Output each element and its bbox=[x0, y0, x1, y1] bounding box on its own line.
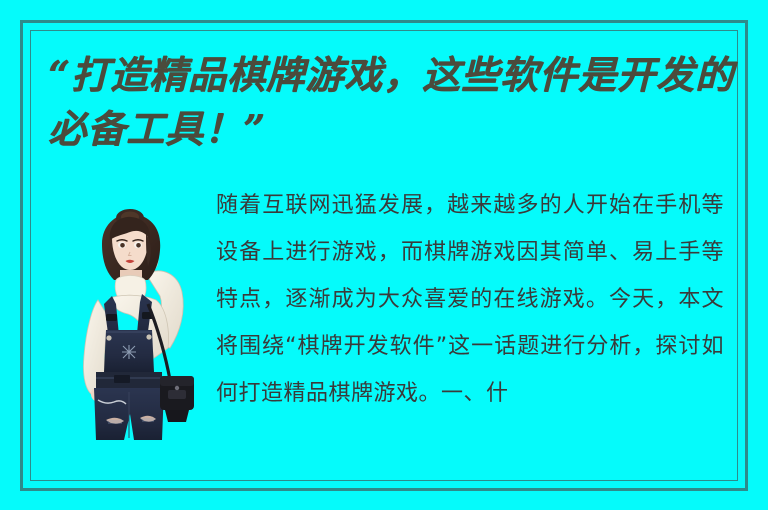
article-body: 随着互联网迅猛发展，越来越多的人开始在手机等设备上进行游戏，而棋牌游戏因其简单、… bbox=[216, 182, 724, 417]
page-title: “打造精品棋牌游戏，这些软件是开发的必备工具！” bbox=[48, 48, 738, 156]
poster-canvas: “打造精品棋牌游戏，这些软件是开发的必备工具！” bbox=[0, 0, 768, 510]
woman-illustration-graphic bbox=[62, 208, 210, 446]
woman-illustration bbox=[62, 208, 210, 446]
